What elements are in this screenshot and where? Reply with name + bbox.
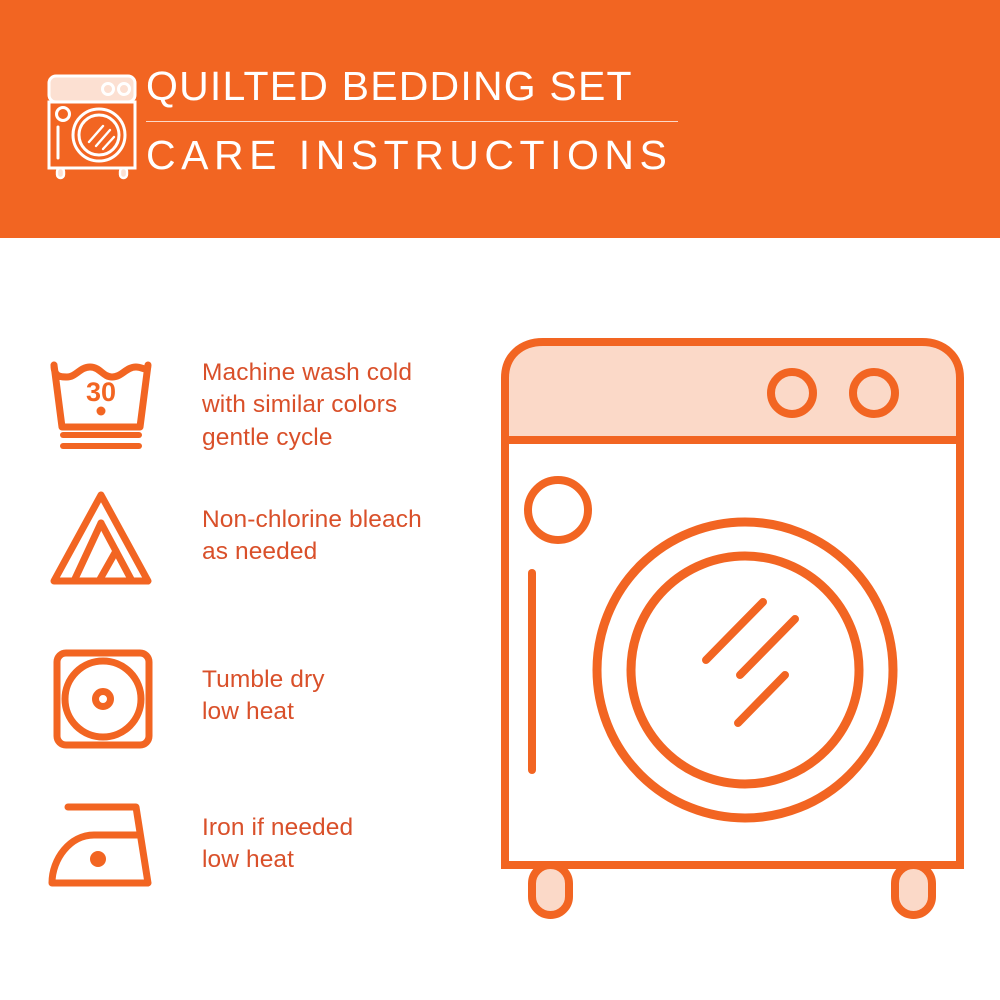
care-instruction-text: Machine wash cold with similar colors ge…	[164, 343, 412, 454]
washing-machine-icon	[44, 72, 140, 180]
title-divider	[146, 121, 678, 122]
care-text-line: Machine wash cold	[202, 357, 412, 389]
care-text-line: low heat	[202, 844, 353, 876]
care-text-line: as needed	[202, 536, 422, 568]
care-instruction-text: Iron if needed low heat	[164, 793, 353, 877]
washing-machine-illustration	[495, 330, 970, 940]
care-instruction-row: Tumble dry low heat	[44, 643, 484, 755]
care-instruction-text: Non-chlorine bleach as needed	[164, 483, 422, 569]
page-subtitle: CARE INSTRUCTIONS	[146, 135, 706, 176]
care-text-line: with similar colors	[202, 389, 412, 421]
care-text-line: gentle cycle	[202, 422, 412, 454]
page-title: QUILTED BEDDING SET	[146, 66, 706, 107]
care-text-line: Tumble dry	[202, 664, 325, 696]
bleach-triangle-icon	[44, 483, 164, 595]
care-instruction-row: Iron if needed low heat	[44, 793, 484, 905]
care-instruction-row: Non-chlorine bleach as needed	[44, 483, 484, 595]
care-text-line: Non-chlorine bleach	[202, 504, 422, 536]
tumble-dry-icon	[44, 643, 164, 755]
wash-temperature-label: 30	[86, 377, 116, 407]
care-text-line: Iron if needed	[202, 812, 353, 844]
header-text-block: QUILTED BEDDING SET CARE INSTRUCTIONS	[146, 66, 706, 176]
care-instruction-row: 30 Machine wash cold with similar colors…	[44, 343, 484, 455]
header-banner: QUILTED BEDDING SET CARE INSTRUCTIONS	[0, 0, 1000, 238]
wash-tub-icon: 30	[44, 343, 164, 455]
care-instruction-text: Tumble dry low heat	[164, 643, 325, 729]
iron-icon	[44, 793, 164, 905]
care-text-line: low heat	[202, 696, 325, 728]
